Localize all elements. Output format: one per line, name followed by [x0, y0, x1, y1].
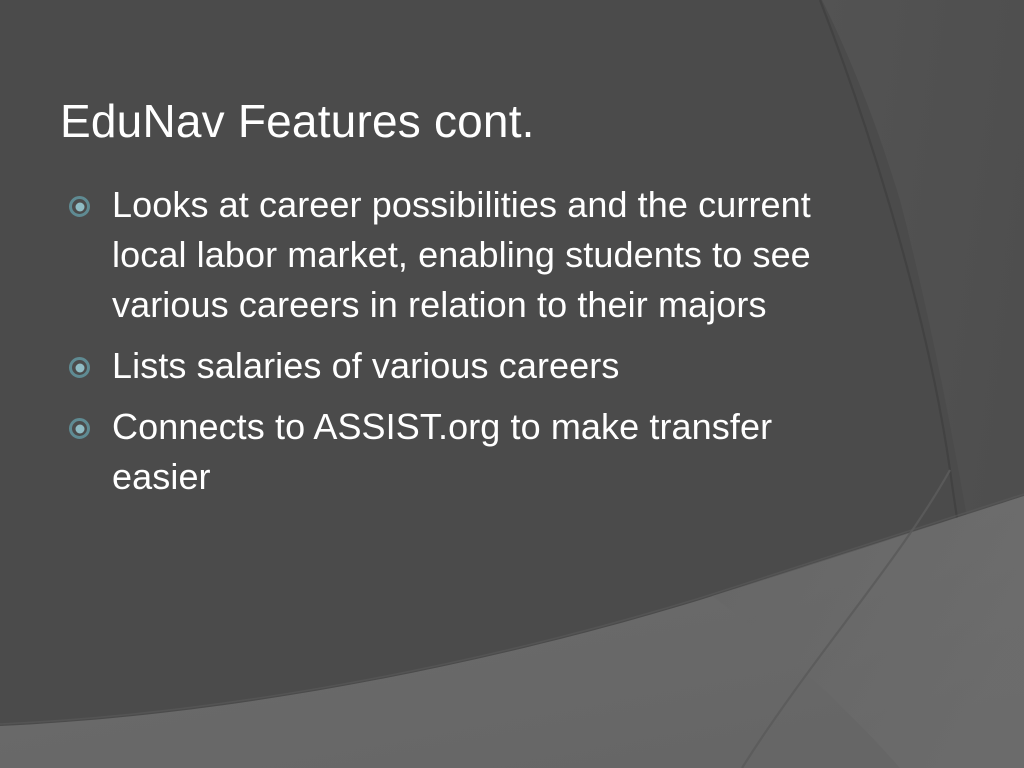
bullet-item: Connects to ASSIST.org to make transfer …	[60, 402, 850, 502]
bullet-item: Looks at career possibilities and the cu…	[60, 180, 850, 330]
target-ring-bullet-icon	[69, 418, 90, 439]
bullet-text: Connects to ASSIST.org to make transfer …	[112, 402, 850, 502]
bullet-text: Looks at career possibilities and the cu…	[112, 180, 850, 330]
presentation-slide: EduNav Features cont. Looks at career po…	[0, 0, 1024, 768]
bullet-text: Lists salaries of various careers	[112, 341, 850, 391]
target-ring-bullet-icon	[69, 196, 90, 217]
target-ring-bullet-icon	[69, 357, 90, 378]
slide-content: EduNav Features cont. Looks at career po…	[0, 0, 1024, 768]
slide-bullet-list: Looks at career possibilities and the cu…	[60, 180, 850, 502]
slide-title: EduNav Features cont.	[60, 93, 940, 149]
bullet-item: Lists salaries of various careers	[60, 341, 850, 391]
